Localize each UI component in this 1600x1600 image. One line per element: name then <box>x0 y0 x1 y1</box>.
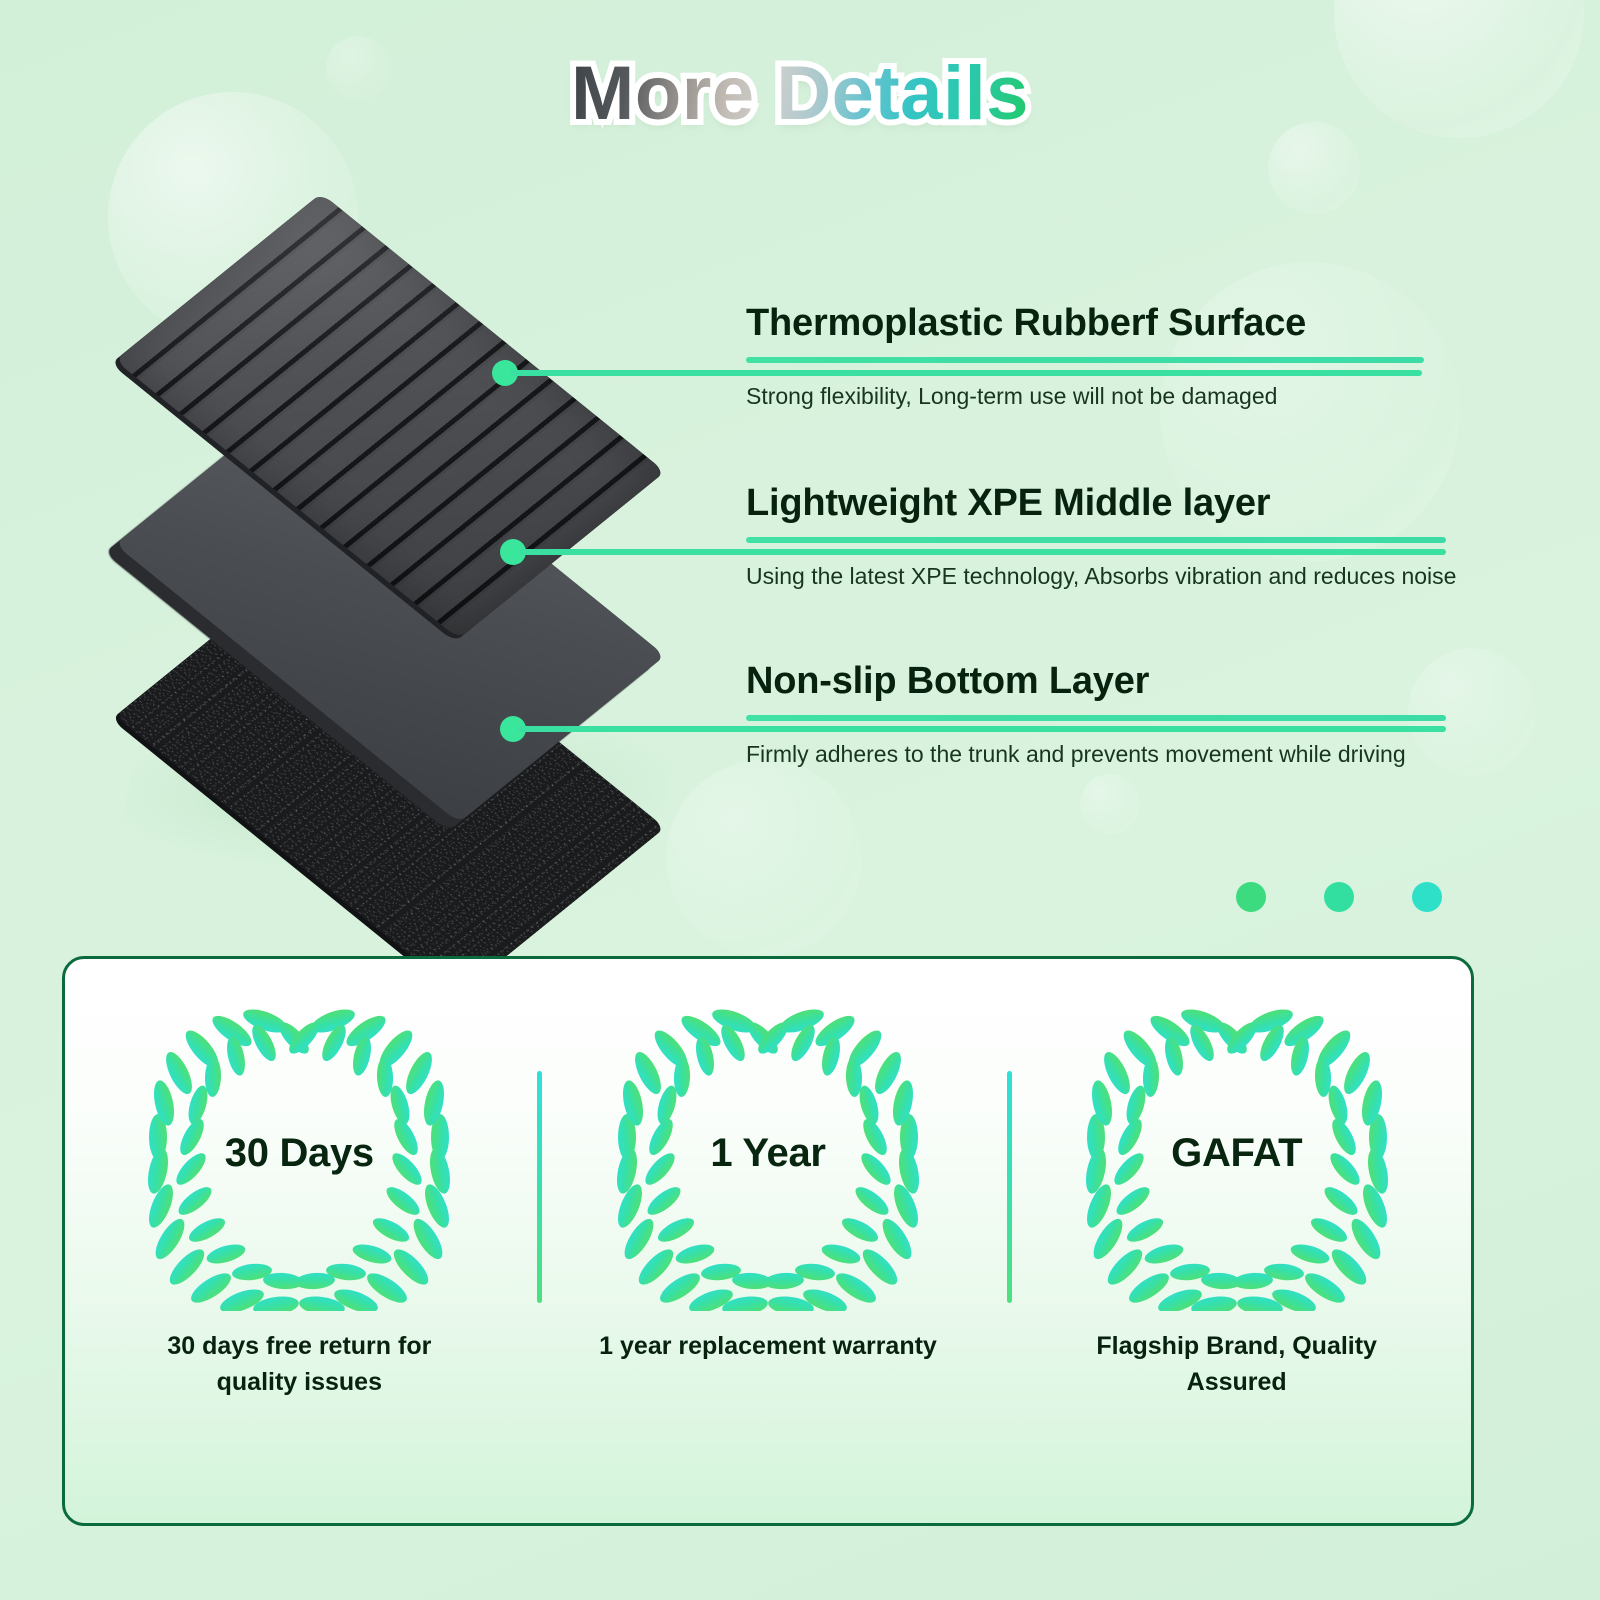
badge-label: 1 Year <box>603 1131 933 1176</box>
badge-divider-1 <box>537 1071 542 1303</box>
laurel-wreath-icon: GAFAT <box>1072 1001 1402 1311</box>
feature-underline <box>746 357 1424 363</box>
guarantee-badge-warranty: 1 Year 1 year replacement warranty <box>534 959 1003 1523</box>
feature-block-3: Non-slip Bottom Layer Firmly adheres to … <box>746 660 1446 768</box>
badge-label: GAFAT <box>1072 1131 1402 1176</box>
feature-description: Firmly adheres to the trunk and prevents… <box>746 741 1446 768</box>
badge-label: 30 Days <box>134 1131 464 1176</box>
page-title: More Details More Details <box>0 52 1600 136</box>
feature-title: Lightweight XPE Middle layer <box>746 482 1446 525</box>
laurel-wreath-icon: 1 Year <box>603 1001 933 1311</box>
carousel-dot-3[interactable] <box>1412 882 1442 912</box>
badge-caption: 1 year replacement warranty <box>598 1329 938 1365</box>
badge-divider-2 <box>1007 1071 1012 1303</box>
bubble-decoration-icon <box>1080 774 1140 834</box>
guarantee-badge-return: 30 Days 30 days free return for quality … <box>65 959 534 1523</box>
product-layers-illustration <box>40 196 740 856</box>
carousel-dot-2[interactable] <box>1324 882 1354 912</box>
feature-description: Using the latest XPE technology, Absorbs… <box>746 563 1446 590</box>
guarantee-badge-row: 30 Days 30 days free return for quality … <box>65 959 1471 1523</box>
feature-underline <box>746 715 1446 721</box>
guarantee-card: 30 Days 30 days free return for quality … <box>62 956 1474 1526</box>
bubble-decoration-icon <box>1268 122 1360 214</box>
feature-description: Strong flexibility, Long-term use will n… <box>746 383 1424 410</box>
product-detail-infographic: More Details More Details <box>0 0 1600 1600</box>
guarantee-badge-brand: GAFAT Flagship Brand, Quality Assured <box>1002 959 1471 1523</box>
carousel-dot-1[interactable] <box>1236 882 1266 912</box>
feature-title: Thermoplastic Rubberf Surface <box>746 302 1424 345</box>
feature-underline <box>746 537 1446 543</box>
feature-block-2: Lightweight XPE Middle layer Using the l… <box>746 482 1446 590</box>
feature-block-1: Thermoplastic Rubberf Surface Strong fle… <box>746 302 1424 410</box>
badge-caption: 30 days free return for quality issues <box>129 1329 469 1400</box>
feature-title: Non-slip Bottom Layer <box>746 660 1446 703</box>
laurel-wreath-icon: 30 Days <box>134 1001 464 1311</box>
carousel-dots[interactable] <box>1236 882 1442 912</box>
page-title-text: More Details <box>571 51 1029 136</box>
product-layer-top-rubber <box>170 196 610 496</box>
badge-caption: Flagship Brand, Quality Assured <box>1067 1329 1407 1400</box>
